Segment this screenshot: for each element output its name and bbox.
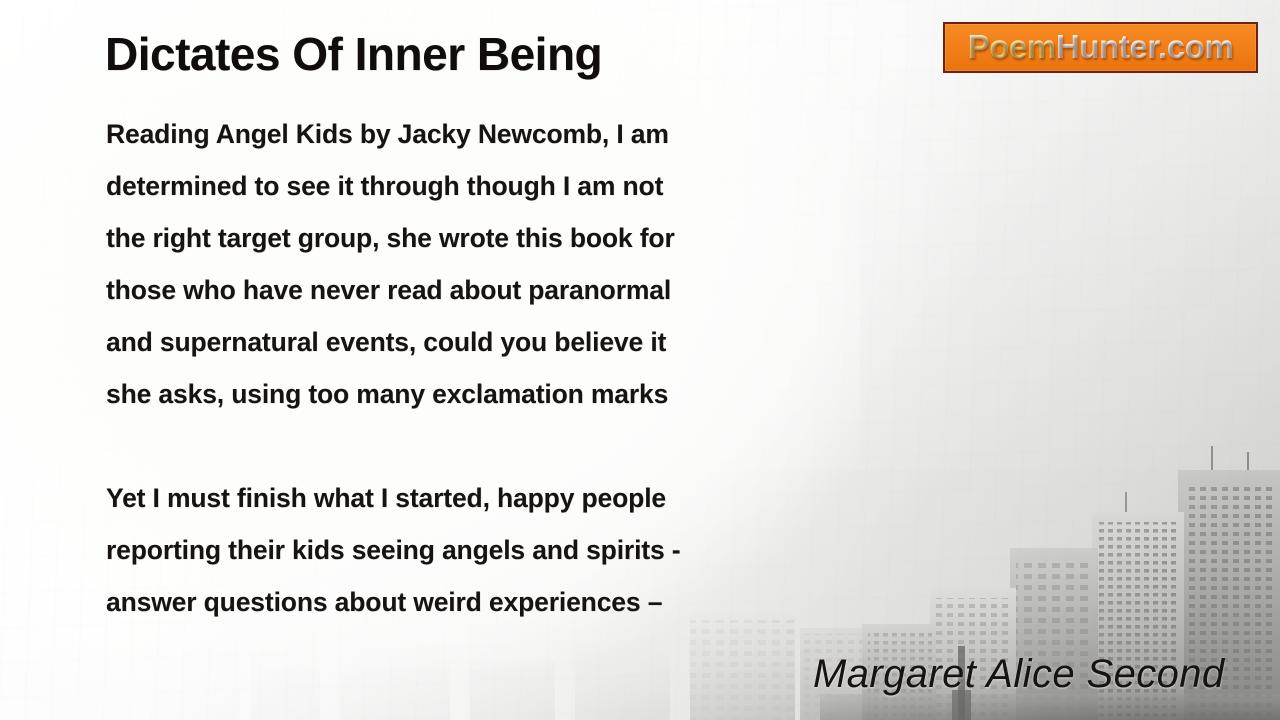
card-content: PoemHunter.com Dictates Of Inner Being R… bbox=[0, 0, 1280, 720]
poem-line: determined to see it through though I am… bbox=[106, 160, 866, 212]
poem-image-card: PoemHunter.com Dictates Of Inner Being R… bbox=[0, 0, 1280, 720]
poem-line: and supernatural events, could you belie… bbox=[106, 316, 866, 368]
poem-line: the right target group, she wrote this b… bbox=[106, 212, 866, 264]
poem-line: Reading Angel Kids by Jacky Newcomb, I a… bbox=[106, 108, 866, 160]
poem-title: Dictates Of Inner Being bbox=[105, 26, 602, 82]
logo-word-poem: Poem bbox=[968, 28, 1056, 65]
poem-stanza: Reading Angel Kids by Jacky Newcomb, I a… bbox=[106, 108, 866, 420]
poem-line: Yet I must finish what I started, happy … bbox=[106, 472, 866, 524]
poem-author: Margaret Alice Second bbox=[813, 650, 1225, 698]
poem-line: those who have never read about paranorm… bbox=[106, 264, 866, 316]
poemhunter-logo[interactable]: PoemHunter.com bbox=[943, 22, 1258, 73]
logo-word-hunter-com: Hunter.com bbox=[1056, 28, 1234, 65]
poemhunter-logo-text: PoemHunter.com bbox=[968, 30, 1234, 65]
poem-line: she asks, using too many exclamation mar… bbox=[106, 368, 866, 420]
poem-line: answer questions about weird experiences… bbox=[106, 576, 866, 628]
poem-stanza: Yet I must finish what I started, happy … bbox=[106, 472, 866, 628]
poem-line: reporting their kids seeing angels and s… bbox=[106, 524, 866, 576]
poem-body: Reading Angel Kids by Jacky Newcomb, I a… bbox=[106, 108, 866, 628]
